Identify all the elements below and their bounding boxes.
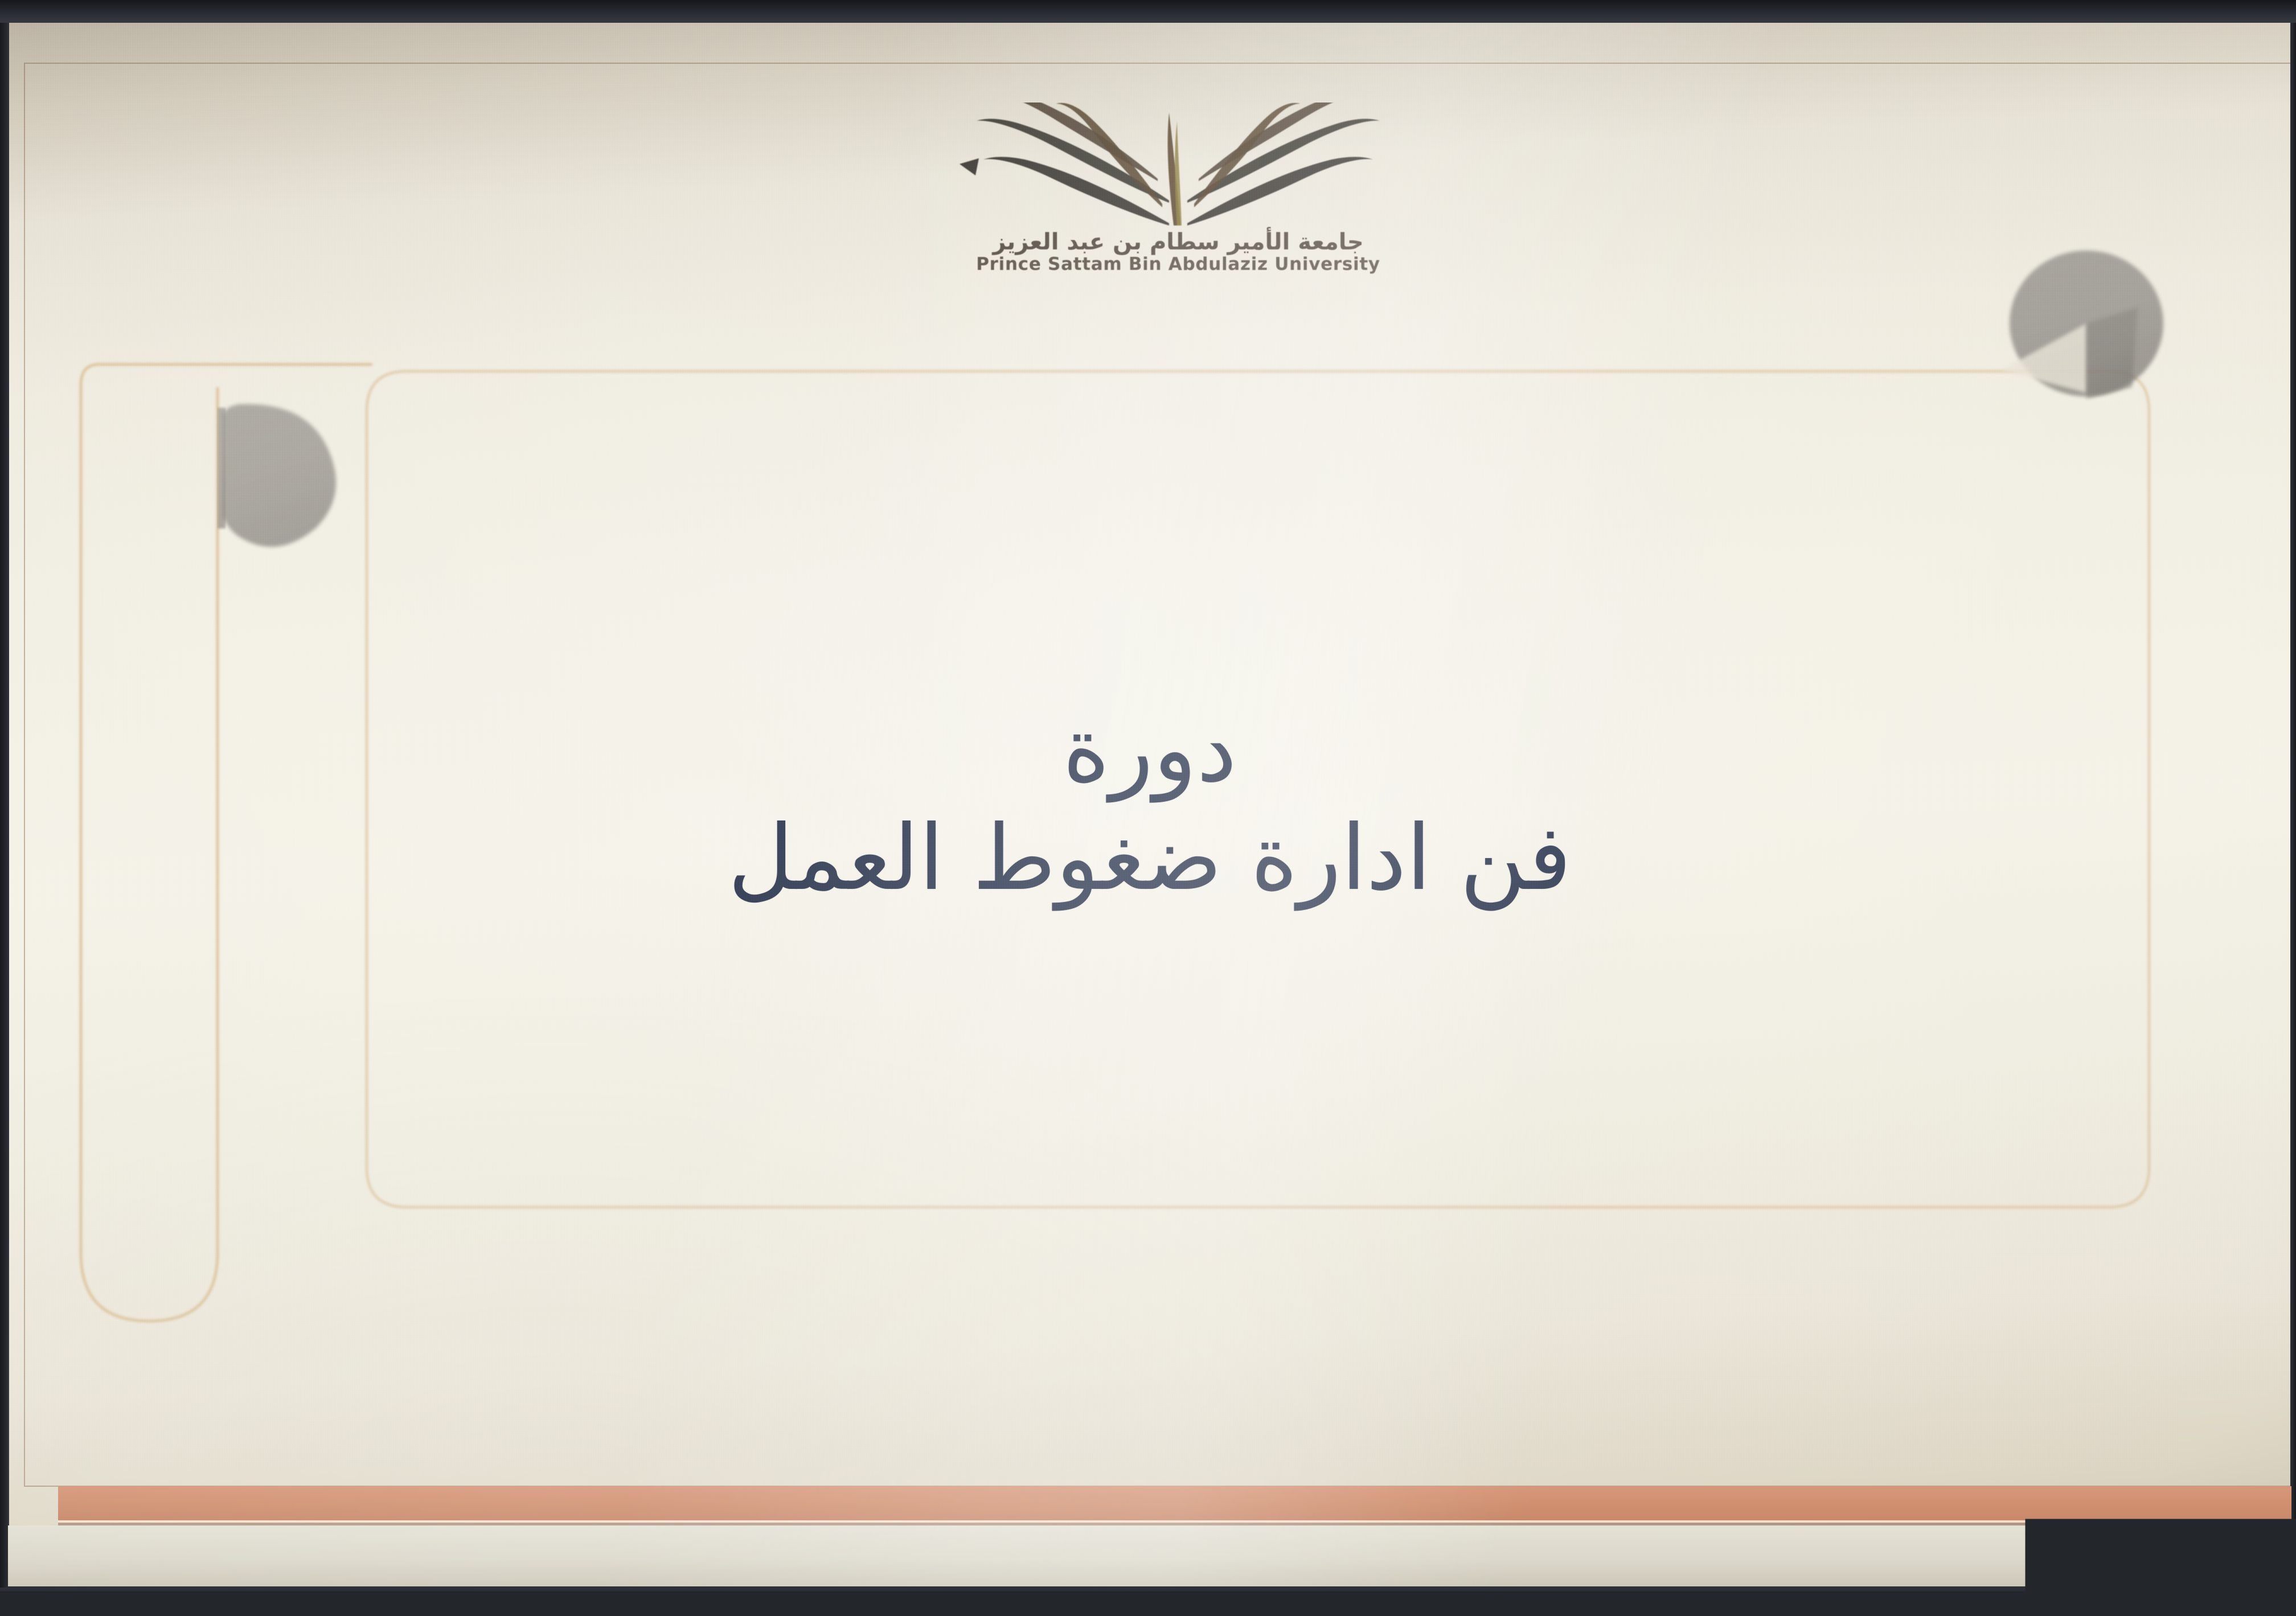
title-line-2: فن ادارة ضغوط العمل [8,803,2291,914]
monitor-bezel-bottom [0,1584,2296,1616]
logo-arabic-name: جامعة الأمير سطام بن عبد العزيز [896,230,1460,254]
logo-book-mark [939,102,1417,233]
university-logo: جامعة الأمير سطام بن عبد العزيز Prince S… [896,102,1460,330]
logo-english-name: Prince Sattam Bin Abdulaziz University [896,255,1460,274]
slide-canvas: جامعة الأمير سطام بن عبد العزيز Prince S… [8,23,2291,1586]
accent-band-fill [58,1486,2291,1520]
monitor-photo: جامعة الأمير سطام بن عبد العزيز Prince S… [0,0,2296,1616]
bottom-accent-band [8,1473,2291,1586]
top-right-page-curl-decoration [2001,251,2163,399]
slide-title: دورة فن ادارة ضغوط العمل [8,695,2291,914]
slide-footer-strip [8,1525,2291,1586]
left-page-curl-decoration [218,404,336,547]
title-line-1: دورة [8,695,2291,806]
